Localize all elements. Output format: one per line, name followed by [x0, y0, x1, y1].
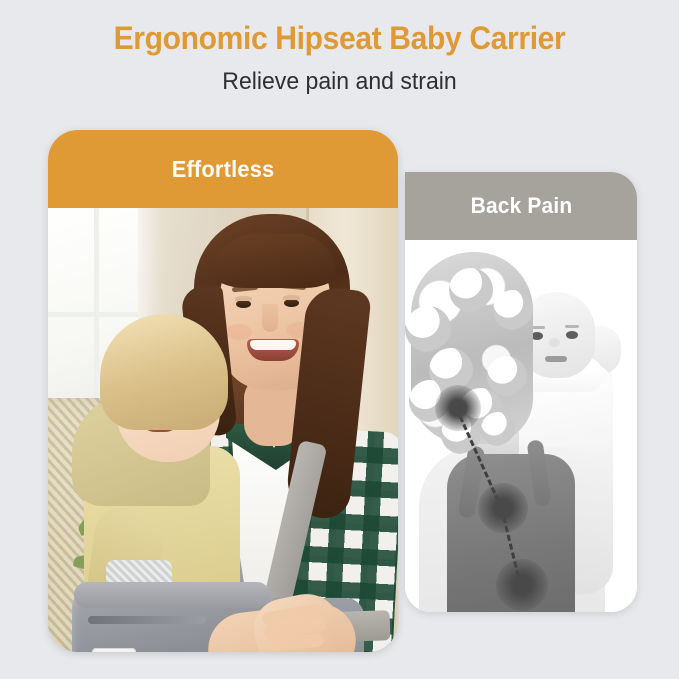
effortless-header-bar: Effortless	[48, 130, 398, 208]
baby-mouth-gray	[545, 356, 567, 362]
back-pain-photo	[405, 240, 637, 612]
carrier-zipper	[88, 616, 206, 624]
mother-smile	[247, 339, 299, 361]
hipseat-top-edge	[74, 582, 270, 608]
panel-divider	[398, 172, 405, 612]
heading-block: Ergonomic Hipseat Baby Carrier Relieve p…	[0, 0, 679, 94]
baby-eye-right-gray	[566, 331, 578, 339]
carrier-brand-tag	[92, 648, 136, 652]
baby-brow-right-gray	[565, 325, 579, 328]
baby-nose-gray	[549, 338, 560, 347]
baby-brow-left-gray	[531, 326, 545, 329]
mother-eyelid-right	[283, 295, 300, 300]
woman-curly-hair	[411, 252, 533, 444]
mother-cheek-left	[226, 324, 252, 340]
baby-hair	[100, 314, 228, 430]
mother-eye-right	[284, 299, 299, 307]
back-pain-label: Back Pain	[470, 193, 572, 219]
page-subtitle: Relieve pain and strain	[14, 54, 666, 94]
mother-eye-left	[236, 300, 251, 308]
window-mullion-horizontal	[48, 312, 138, 317]
infographic-canvas: Ergonomic Hipseat Baby Carrier Relieve p…	[0, 0, 679, 679]
back-pain-header-bar: Back Pain	[405, 172, 637, 240]
comparison-card-back-pain[interactable]: Back Pain	[405, 172, 637, 612]
mother-eyelid-left	[235, 296, 252, 301]
page-title: Ergonomic Hipseat Baby Carrier	[20, 0, 658, 54]
effortless-photo	[48, 208, 398, 652]
mother-nose	[262, 304, 278, 332]
comparison-card-effortless[interactable]: Effortless	[48, 130, 398, 652]
mother-bangs	[214, 234, 336, 288]
effortless-label: Effortless	[172, 156, 275, 183]
